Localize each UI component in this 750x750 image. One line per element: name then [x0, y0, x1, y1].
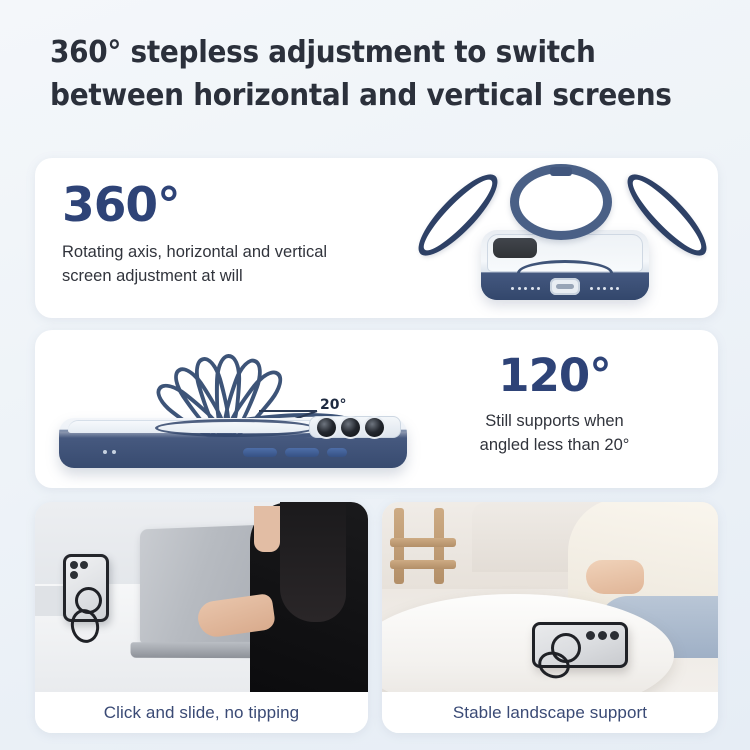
- phone-on-stand-portrait: [63, 554, 109, 646]
- ring-stand-tab: [550, 167, 572, 176]
- spec-120-value: 120°: [417, 353, 692, 398]
- camera-lens-cluster: [309, 416, 401, 438]
- magsafe-ring-outline: [155, 419, 315, 437]
- speaker-grille-right: [590, 287, 619, 290]
- card-photo-table: Stable landscape support: [382, 502, 718, 733]
- volume-down-button: [285, 448, 319, 457]
- phone-on-stand-landscape: [532, 622, 628, 680]
- wooden-chair: [390, 508, 464, 586]
- caption-bar-desk: Click and slide, no tipping: [35, 692, 368, 733]
- camera-lens: [317, 418, 336, 437]
- product-image-120-angles: 20°: [41, 330, 421, 488]
- volume-up-button: [243, 448, 277, 457]
- spec-360-text-block: 360° Rotating axis, horizontal and verti…: [62, 182, 327, 289]
- person-hands-resting: [586, 560, 644, 594]
- phone-case-navy: [481, 230, 649, 300]
- headline-line-2: between horizontal and vertical screens: [50, 75, 664, 118]
- spec-360-description: Rotating axis, horizontal and vertical s…: [62, 240, 327, 289]
- infographic-page: 360° stepless adjustment to switch betwe…: [0, 0, 750, 750]
- caption-table-text: Stable landscape support: [453, 703, 647, 723]
- spec-120-desc-line-2: angled less than 20°: [417, 433, 692, 457]
- side-buttons: [243, 448, 347, 457]
- action-button: [327, 448, 347, 457]
- spec-360-desc-line-2: screen adjustment at will: [62, 264, 327, 288]
- phone-bottom-edge: [481, 273, 649, 300]
- phone-case-navy-side: [59, 418, 407, 468]
- caption-bar-table: Stable landscape support: [382, 692, 718, 733]
- card-spec-360: 360° Rotating axis, horizontal and verti…: [35, 158, 718, 318]
- spec-120-description: Still supports when angled less than 20°: [417, 409, 692, 458]
- ring-stand-upright: [510, 164, 612, 240]
- camera-lens: [341, 418, 360, 437]
- headline-line-1: 360° stepless adjustment to switch: [50, 32, 664, 75]
- speaker-grille-left: [511, 287, 540, 290]
- angle-label-text: 20°: [320, 397, 346, 413]
- spec-120-desc-line-1: Still supports when: [417, 409, 692, 433]
- microphone-dots: [103, 450, 116, 454]
- angle-baseline: [259, 410, 317, 412]
- spec-360-desc-line-1: Rotating axis, horizontal and vertical: [62, 240, 327, 264]
- camera-lens: [365, 418, 384, 437]
- spec-120-text-block: 120° Still supports when angled less tha…: [417, 353, 692, 458]
- camera-module: [493, 238, 537, 258]
- photo-table-scene: [382, 502, 718, 692]
- caption-desk-text: Click and slide, no tipping: [104, 703, 299, 723]
- person-in-blazer: [250, 502, 368, 692]
- person-neck: [254, 506, 280, 552]
- spec-360-value: 360°: [62, 182, 327, 229]
- camera-module: [70, 561, 90, 579]
- product-image-360-rotation: [413, 158, 718, 318]
- photo-desk-scene: [35, 502, 368, 692]
- charging-port: [550, 278, 580, 295]
- card-spec-120: 20° 120° Still su: [35, 330, 718, 488]
- camera-module: [586, 631, 619, 640]
- card-photo-desk: Click and slide, no tipping: [35, 502, 368, 733]
- person-hair: [280, 502, 346, 622]
- page-title: 360° stepless adjustment to switch betwe…: [50, 32, 664, 117]
